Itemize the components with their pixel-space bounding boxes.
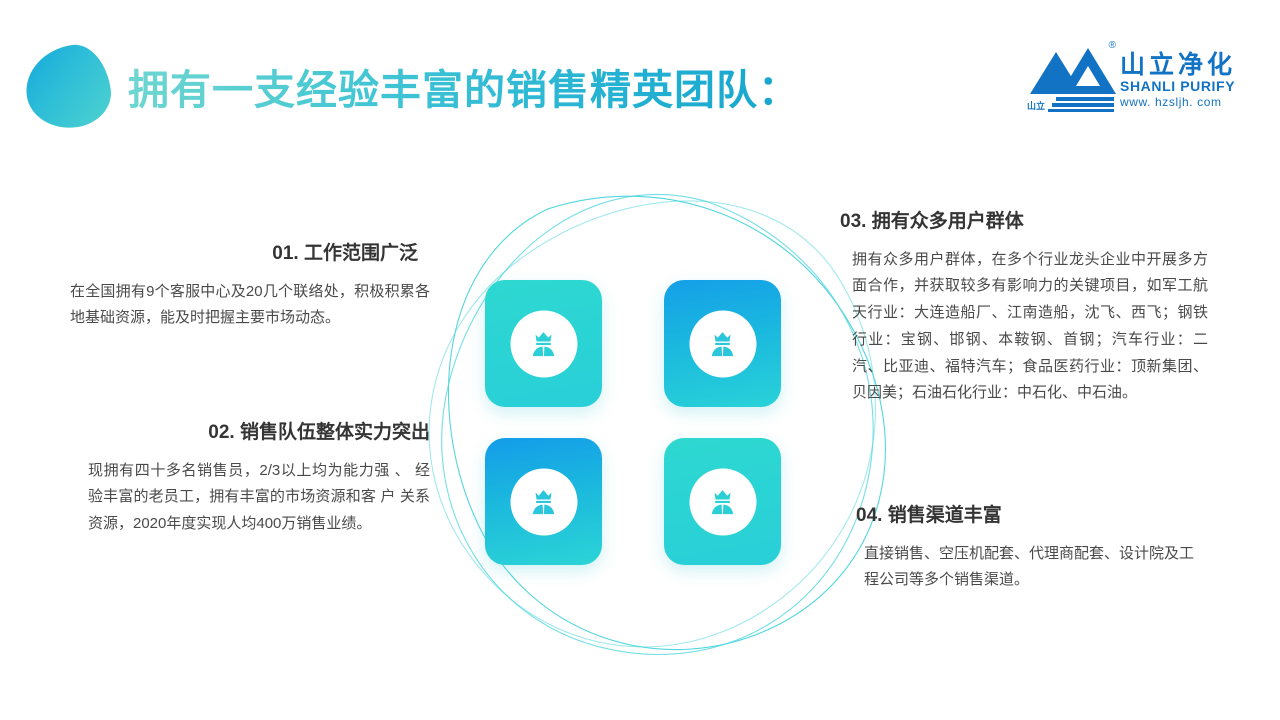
tile-top-right[interactable] — [664, 280, 781, 407]
feature-heading-03: 03. 拥有众多用户群体 — [840, 211, 1208, 234]
company-logo: ® 山立 山立净化 SHANLI PURIFY www. hzsljh. com — [1026, 38, 1252, 112]
mountain-logo-icon: ® 山立 — [1026, 38, 1118, 112]
vip-crown-user-icon — [510, 468, 577, 535]
feature-body-01: 在全国拥有9个客服中心及20几个联络处，积极积累各地基础资源，能及时把握主要市场… — [70, 279, 430, 332]
feature-block-03: 03. 拥有众多用户群体 拥有众多用户群体，在多个行业龙头企业中开展多方面合作，… — [840, 211, 1208, 407]
feature-block-04: 04. 销售渠道丰富 直接销售、空压机配套、代理商配套、设计院及工程公司等多个销… — [856, 505, 1196, 594]
feature-block-02: 02. 销售队伍整体实力突出 现拥有四十多名销售员，2/3以上均为能力强 、 经… — [70, 422, 430, 538]
icon-tile-grid — [485, 280, 781, 565]
feature-heading-04: 04. 销售渠道丰富 — [856, 505, 1196, 528]
feature-body-04: 直接销售、空压机配套、代理商配套、设计院及工程公司等多个销售渠道。 — [856, 541, 1196, 594]
tile-bottom-left[interactable] — [485, 438, 602, 565]
header-decor-blob-icon — [21, 41, 116, 134]
logo-name-en: SHANLI PURIFY — [1120, 78, 1236, 95]
logo-text-group: 山立净化 SHANLI PURIFY www. hzsljh. com — [1120, 38, 1236, 109]
logo-mark-label: 山立 — [1027, 102, 1045, 111]
vip-crown-user-icon — [689, 468, 756, 535]
registered-trademark-icon: ® — [1109, 40, 1116, 51]
feature-block-01: 01. 工作范围广泛 在全国拥有9个客服中心及20几个联络处，积极积累各地基础资… — [70, 243, 430, 332]
page-header: 拥有一支经验丰富的销售精英团队： ® 山立 山立净化 SHANLI PURIFY… — [0, 0, 1280, 150]
vip-crown-user-icon — [689, 310, 756, 377]
tile-bottom-right[interactable] — [664, 438, 781, 565]
feature-heading-01: 01. 工作范围广泛 — [70, 243, 430, 266]
vip-crown-user-icon — [510, 310, 577, 377]
page-title: 拥有一支经验丰富的销售精英团队： — [128, 56, 800, 116]
logo-name-cn: 山立净化 — [1120, 52, 1236, 78]
tile-top-left[interactable] — [485, 280, 602, 407]
feature-body-03: 拥有众多用户群体，在多个行业龙头企业中开展多方面合作，并获取较多有影响力的关键项… — [840, 247, 1208, 407]
feature-body-02: 现拥有四十多名销售员，2/3以上均为能力强 、 经验丰富的老员工，拥有丰富的市场… — [70, 458, 430, 538]
feature-heading-02: 02. 销售队伍整体实力突出 — [70, 422, 430, 445]
logo-website: www. hzsljh. com — [1120, 95, 1236, 109]
